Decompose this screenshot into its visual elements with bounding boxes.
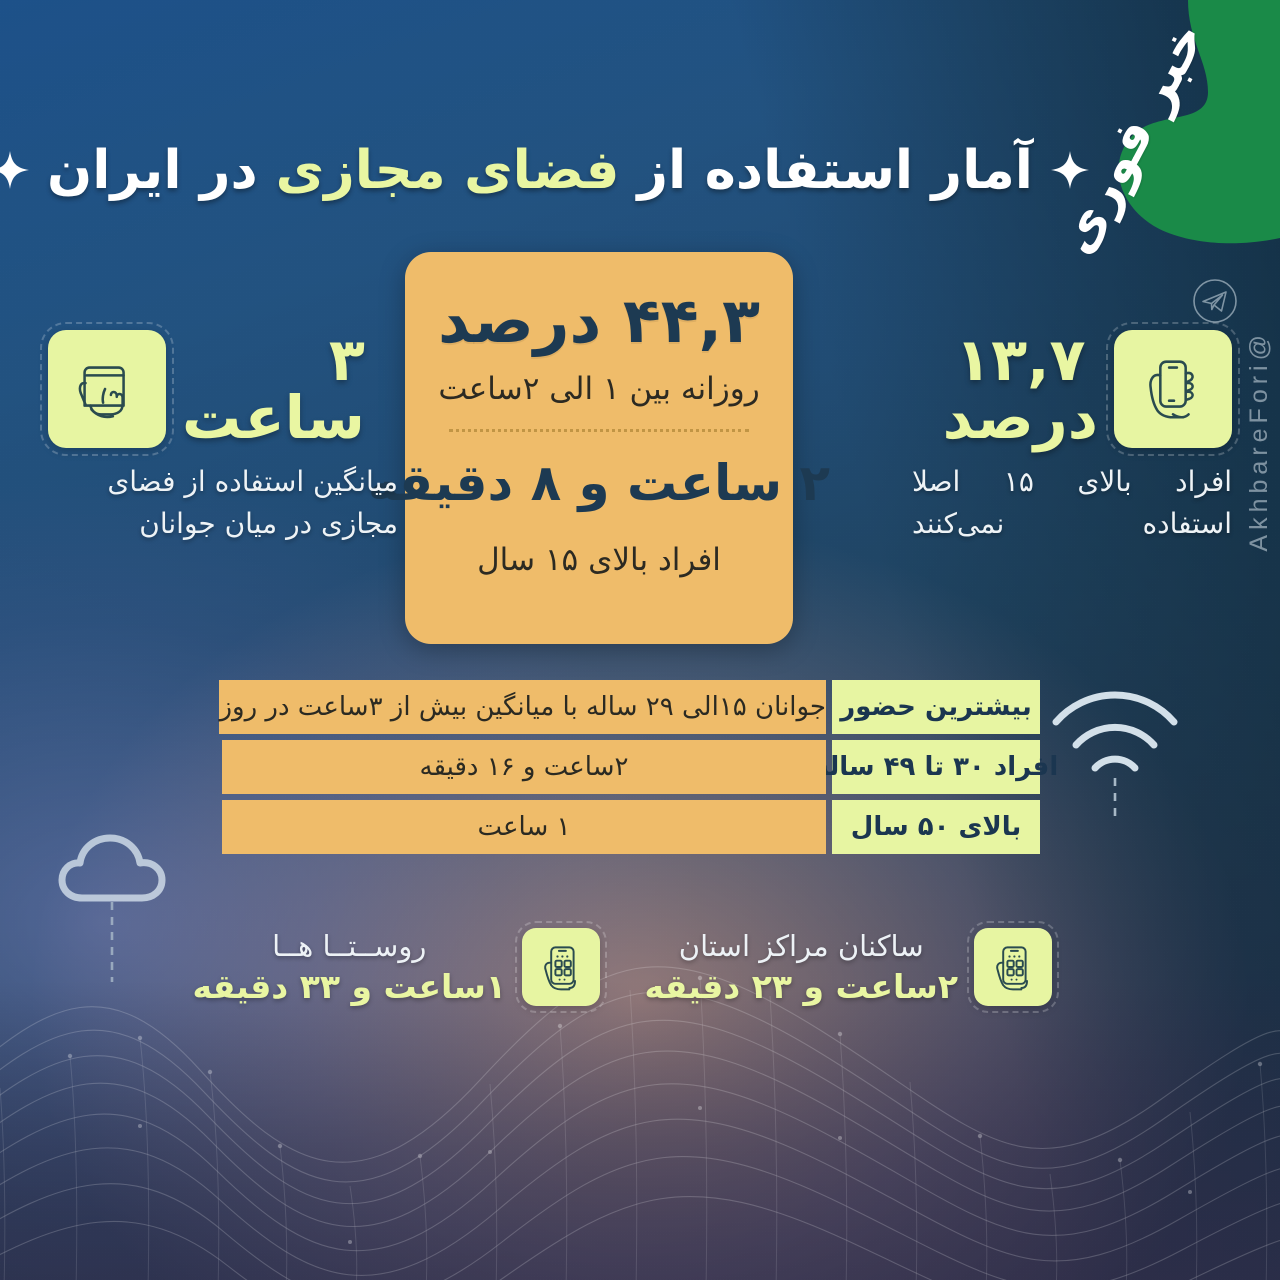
main-card-duration-caption: افراد بالای ۱۵ سال xyxy=(477,542,721,578)
stat-right-header: ۱۳,۷ درصد xyxy=(912,330,1232,448)
infographic-canvas: خبر فوری @AkhbareFori آمار استفاده از فض… xyxy=(0,0,1280,1280)
stat-right-description-line1: افراد بالای ۱۵ اصلا xyxy=(912,462,1232,502)
stat-left-unit: ساعت xyxy=(182,389,365,447)
stat-block-province-residents: ساکنان مراکز استان ۲ساعت و ۲۳ دقیقه xyxy=(644,928,1052,1006)
table-row-label: بیشترین حضور xyxy=(832,680,1040,734)
phone-apps-in-hand-icon xyxy=(522,928,600,1006)
telegram-paper-plane-icon xyxy=(1192,278,1238,324)
table-row-value: ۲ساعت و ۱۶ دقیقه xyxy=(222,740,826,794)
cloud-icon xyxy=(48,812,198,982)
four-point-star-icon xyxy=(0,151,29,189)
province-text-group: ساکنان مراکز استان ۲ساعت و ۲۳ دقیقه xyxy=(644,929,958,1006)
main-card-percent-caption: روزانه بین ۱ الی ۲ساعت xyxy=(438,371,759,407)
main-card-percent: ۴۴,۳ درصد xyxy=(438,284,760,357)
usage-by-age-table: بیشترین حضور جوانان ۱۵الی ۲۹ ساله با میا… xyxy=(222,680,1040,860)
stat-left-header: ۳ ساعت xyxy=(48,330,398,448)
main-card-divider xyxy=(449,429,748,432)
page-title-highlight: فضای مجازی xyxy=(276,140,620,201)
stat-right-unit: درصد xyxy=(943,389,1098,447)
phone-apps-in-hand-icon xyxy=(974,928,1052,1006)
table-row-label: افراد ۳۰ تا ۴۹ ساله xyxy=(832,740,1040,794)
main-card-duration: ۲ ساعت و ۸ دقیقه xyxy=(368,454,830,512)
stat-left-description-line1: میانگین استفاده از فضای xyxy=(48,462,398,502)
page-title-part1: آمار استفاده از xyxy=(638,140,1033,201)
table-row: بیشترین حضور جوانان ۱۵الی ۲۹ ساله با میا… xyxy=(222,680,1040,734)
wifi-signal-icon xyxy=(1040,650,1190,820)
mesh-wave-decoration xyxy=(0,960,1280,1280)
four-point-star-icon xyxy=(1051,151,1089,189)
village-text-group: روســتــا هــا ۱ساعت و ۳۳ دقیقه xyxy=(192,929,506,1006)
village-value: ۱ساعت و ۳۳ دقیقه xyxy=(192,967,506,1006)
province-value: ۲ساعت و ۲۳ دقیقه xyxy=(644,967,958,1006)
table-row-label: بالای ۵۰ سال xyxy=(832,800,1040,854)
stat-block-nonusers: ۱۳,۷ درصد افراد بالای ۱۵ اصلا استفاده نم… xyxy=(912,330,1232,544)
main-stat-card: ۴۴,۳ درصد روزانه بین ۱ الی ۲ساعت ۲ ساعت … xyxy=(405,252,793,644)
table-row-value: ۱ ساعت xyxy=(222,800,826,854)
village-label: روســتــا هــا xyxy=(192,929,506,963)
page-title-part2: در ایران xyxy=(47,140,258,201)
page-title: آمار استفاده از فضای مجازی در ایران xyxy=(0,128,1080,212)
telegram-handle-label: @AkhbareFori xyxy=(1245,330,1274,552)
stat-block-village-residents: روســتــا هــا ۱ساعت و ۳۳ دقیقه xyxy=(192,928,600,1006)
hand-holding-phone-icon xyxy=(1114,330,1232,448)
tap-phone-icon xyxy=(48,330,166,448)
table-row: بالای ۵۰ سال ۱ ساعت xyxy=(222,800,1040,854)
province-label: ساکنان مراکز استان xyxy=(644,929,958,963)
stat-left-value: ۳ xyxy=(182,331,365,389)
stat-left-description-line2: مجازی در میان جوانان xyxy=(48,504,398,544)
stat-right-description-line2: استفاده نمی‌کنند xyxy=(912,504,1232,544)
table-row-value: جوانان ۱۵الی ۲۹ ساله با میانگین بیش از ۳… xyxy=(219,680,826,734)
stat-right-value: ۱۳,۷ xyxy=(943,331,1098,389)
table-row: افراد ۳۰ تا ۴۹ ساله ۲ساعت و ۱۶ دقیقه xyxy=(222,740,1040,794)
stat-block-youth-average: ۳ ساعت میانگین استفاده از فضای xyxy=(48,330,398,544)
